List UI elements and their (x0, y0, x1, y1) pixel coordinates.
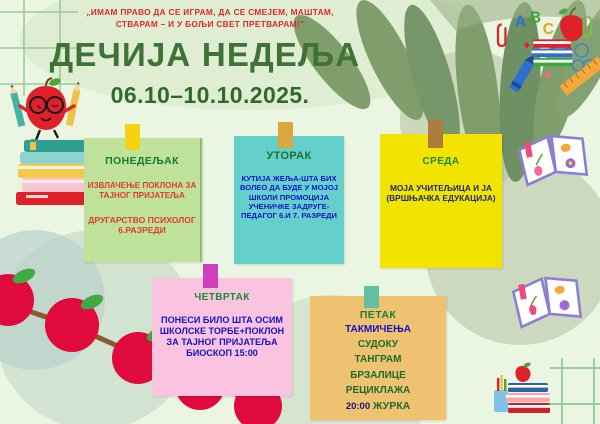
friday-activity-2: СУДОКУ (310, 339, 446, 351)
day-card-monday[interactable]: ПОНЕДЕЉАК ИЗВЛАЧЕЊЕ ПОКЛОНА ЗА ТАЈНОГ ПР… (84, 138, 202, 262)
monday-activity-2: ДРУГАРСТВО ПСИХОЛОГ 6.РАЗРЕДИ (84, 215, 200, 236)
day-label-wednesday: СРЕДА (380, 156, 502, 167)
friday-party-time: 20:00 (346, 401, 370, 412)
thursday-activity-1: ПОНЕСИ БИЛО ШТА ОСИМ ШКОЛСКЕ ТОРБЕ+ПОКЛО… (152, 315, 292, 359)
friday-activity-1: ТАКМИЧЕЊА (310, 324, 446, 336)
svg-text:C: C (543, 21, 554, 38)
day-card-wednesday[interactable]: СРЕДА МОЈА УЧИТЕЉИЦА И ЈА (ВРШЊАЧКА ЕДУК… (380, 134, 502, 268)
poster-canvas: A B C (0, 0, 600, 424)
poster-dates: 06.10–10.10.2025. (60, 82, 360, 109)
day-card-tuesday[interactable]: УТОРАК КУТИЈА ЖЕЉА-ШТА БИХ ВОЛЕО ДА БУДЕ… (234, 136, 344, 264)
friday-activity-3: ТАНГРАМ (310, 354, 446, 366)
tape-thursday (203, 264, 218, 288)
poster-slogan: „ИМАМ ПРАВО ДА СЕ ИГРАМ, ДА СЕ СМЕЈЕМ, М… (50, 6, 370, 31)
tape-friday (364, 286, 379, 308)
tape-wednesday (428, 120, 443, 148)
svg-text:A: A (515, 13, 526, 30)
wednesday-activity-1: МОЈА УЧИТЕЉИЦА И ЈА (ВРШЊАЧКА ЕДУКАЦИЈА) (380, 183, 502, 203)
book-stack-icon (16, 140, 92, 205)
tape-tuesday (278, 122, 293, 148)
day-label-monday: ПОНЕДЕЉАК (84, 155, 200, 167)
tape-monday (125, 124, 140, 150)
day-card-thursday[interactable]: ЧЕТВРТАК ПОНЕСИ БИЛО ШТА ОСИМ ШКОЛСКЕ ТО… (152, 278, 292, 396)
friday-party: 20:00 ЖУРКА (310, 400, 446, 413)
day-label-thursday: ЧЕТВРТАК (152, 292, 292, 303)
tuesday-activity-1: КУТИЈА ЖЕЉА-ШТА БИХ ВОЛЕО ДА БУДЕ У МОЈО… (234, 174, 344, 220)
slogan-line-2: СТВАРАМ – И У БОЉИ СВЕТ ПРЕТВАРАМ!" (50, 18, 370, 30)
friday-activity-4: БРЗАЛИЦЕ (310, 370, 446, 382)
day-label-tuesday: УТОРАК (234, 150, 344, 162)
slogan-line-1: „ИМАМ ПРАВО ДА СЕ ИГРАМ, ДА СЕ СМЕЈЕМ, М… (50, 6, 370, 18)
poster-title: ДЕЧИЈА НЕДЕЉА (20, 36, 390, 74)
svg-text:B: B (530, 10, 541, 27)
day-label-friday: ПЕТАК (310, 309, 446, 321)
monday-activity-1: ИЗВЛАЧЕЊЕ ПОКЛОНА ЗА ТАЈНОГ ПРИЈАТЕЉА (84, 181, 200, 201)
friday-activity-5: РЕЦИКЛАЖА (310, 385, 446, 397)
day-card-friday[interactable]: ПЕТАК ТАКМИЧЕЊА СУДОКУ ТАНГРАМ БРЗАЛИЦЕ … (310, 296, 446, 420)
friday-party-label: ЖУРКА (373, 400, 410, 412)
